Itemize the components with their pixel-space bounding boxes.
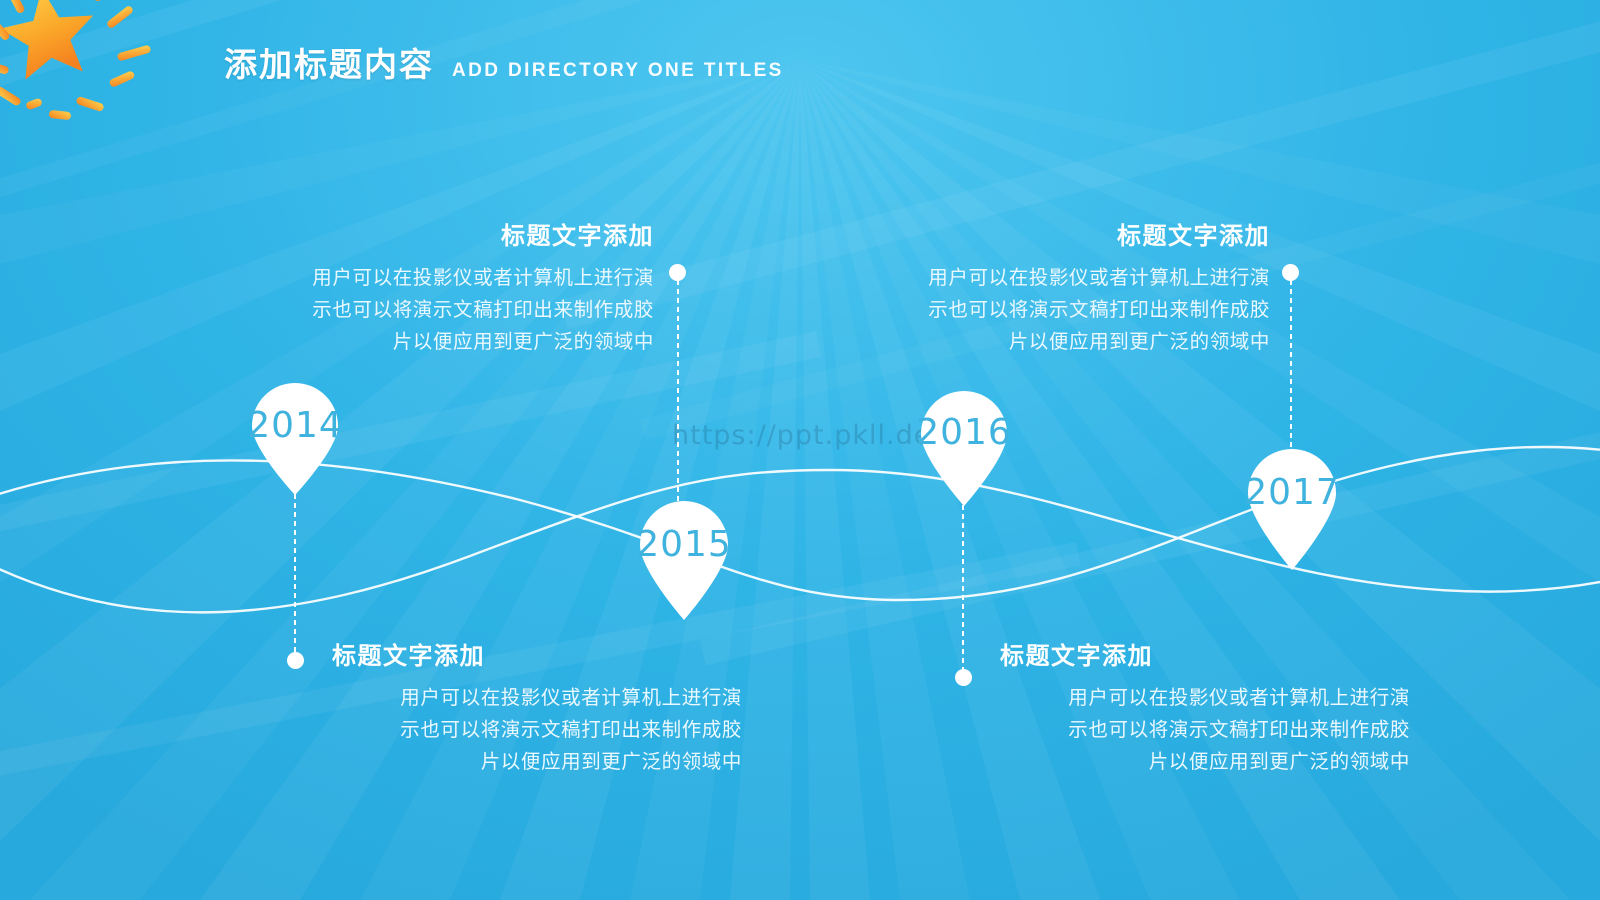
slide-canvas: 添加标题内容 ADD DIRECTORY ONE TITLES https://… <box>0 0 1600 900</box>
connector-line-2017 <box>1290 280 1292 452</box>
connector-dot-2017 <box>1282 264 1299 281</box>
connector-line-2016 <box>962 505 964 673</box>
milestone-title-2017: 标题文字添加 <box>856 216 1270 251</box>
milestone-pin-2016[interactable]: 2016 <box>915 390 1013 506</box>
milestone-pin-2017[interactable]: 2017 <box>1242 448 1342 570</box>
milestone-block-2014: 标题文字添加 用户可以在投影仪或者计算机上进行演 示也可以将演示文稿打印出来制作… <box>332 636 742 778</box>
connector-dot-2014 <box>287 652 304 669</box>
milestone-body-2015: 用户可以在投影仪或者计算机上进行演 示也可以将演示文稿打印出来制作成胶 片以便应… <box>240 262 654 358</box>
milestone-body-2016: 用户可以在投影仪或者计算机上进行演 示也可以将演示文稿打印出来制作成胶 片以便应… <box>1000 682 1410 778</box>
map-pin-icon <box>246 383 344 495</box>
milestone-pin-2014[interactable]: 2014 <box>246 383 344 495</box>
map-pin-icon <box>1242 448 1342 570</box>
connector-dot-2016 <box>955 669 972 686</box>
milestone-title-2016: 标题文字添加 <box>1000 636 1410 671</box>
milestone-pin-2015[interactable]: 2015 <box>634 500 734 620</box>
map-pin-icon <box>634 500 734 620</box>
milestone-block-2016: 标题文字添加 用户可以在投影仪或者计算机上进行演 示也可以将演示文稿打印出来制作… <box>1000 636 1410 778</box>
milestone-body-2014: 用户可以在投影仪或者计算机上进行演 示也可以将演示文稿打印出来制作成胶 片以便应… <box>332 682 742 778</box>
milestone-block-2015: 标题文字添加 用户可以在投影仪或者计算机上进行演 示也可以将演示文稿打印出来制作… <box>240 216 654 358</box>
milestone-title-2015: 标题文字添加 <box>240 216 654 251</box>
connector-dot-2015 <box>669 264 686 281</box>
milestone-block-2017: 标题文字添加 用户可以在投影仪或者计算机上进行演 示也可以将演示文稿打印出来制作… <box>856 216 1270 358</box>
milestone-body-2017: 用户可以在投影仪或者计算机上进行演 示也可以将演示文稿打印出来制作成胶 片以便应… <box>856 262 1270 358</box>
connector-line-2015 <box>677 280 679 502</box>
map-pin-icon <box>915 390 1013 506</box>
watermark-url: https://ppt.pkll.de <box>672 420 931 451</box>
connector-line-2014 <box>294 494 296 656</box>
milestone-title-2014: 标题文字添加 <box>332 636 742 671</box>
